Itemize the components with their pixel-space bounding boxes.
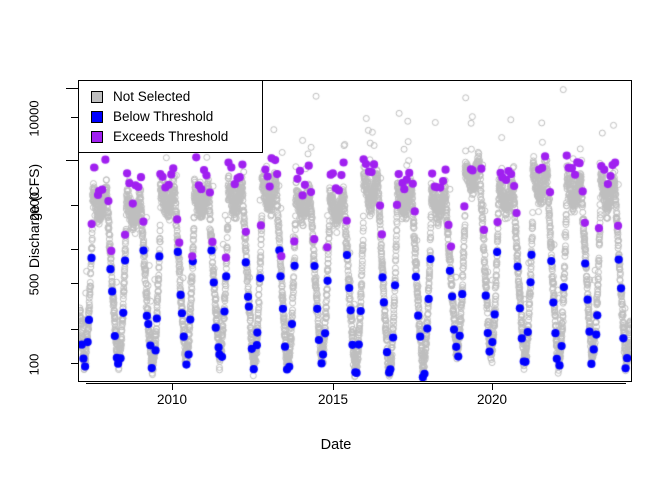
y-tick-500	[71, 283, 78, 284]
legend-swatch-exceeds-threshold	[91, 131, 103, 143]
legend-item-below-threshold: Below Threshold	[91, 107, 262, 127]
x-tick-2010	[172, 383, 173, 390]
x-axis-title: Date	[0, 437, 672, 453]
legend: Not Selected Below Threshold Exceeds Thr…	[78, 80, 263, 153]
y-tick-label-100: 100	[26, 354, 41, 376]
legend-label-exceeds-threshold: Exceeds Threshold	[113, 130, 228, 144]
y-tick-2000	[71, 205, 78, 206]
x-tick-label-2010: 2010	[142, 392, 202, 407]
y-tick-200	[71, 329, 78, 330]
x-axis-line	[86, 383, 626, 384]
legend-item-exceeds-threshold: Exceeds Threshold	[91, 127, 262, 147]
y-tick-10000	[71, 117, 78, 118]
x-tick-label-2015: 2015	[303, 392, 363, 407]
discharge-scatter-plot: 10000 2000 500 100 2010 2015 2020 Discha…	[0, 0, 672, 480]
legend-swatch-below-threshold	[91, 111, 103, 123]
y-tick-100	[71, 363, 78, 364]
x-tick-2015	[333, 383, 334, 390]
legend-swatch-not-selected	[91, 91, 103, 103]
x-tick-2020	[492, 383, 493, 390]
y-axis-title: Discharge (CFS)	[26, 116, 42, 316]
y-tick-20000	[66, 88, 78, 89]
legend-label-not-selected: Not Selected	[113, 90, 190, 104]
y-tick-5000	[66, 160, 78, 161]
x-tick-label-2020: 2020	[462, 392, 522, 407]
legend-item-not-selected: Not Selected	[91, 87, 262, 107]
y-tick-label-100-wrap: 100	[0, 356, 68, 370]
legend-label-below-threshold: Below Threshold	[113, 110, 213, 124]
y-tick-1000	[71, 249, 78, 250]
